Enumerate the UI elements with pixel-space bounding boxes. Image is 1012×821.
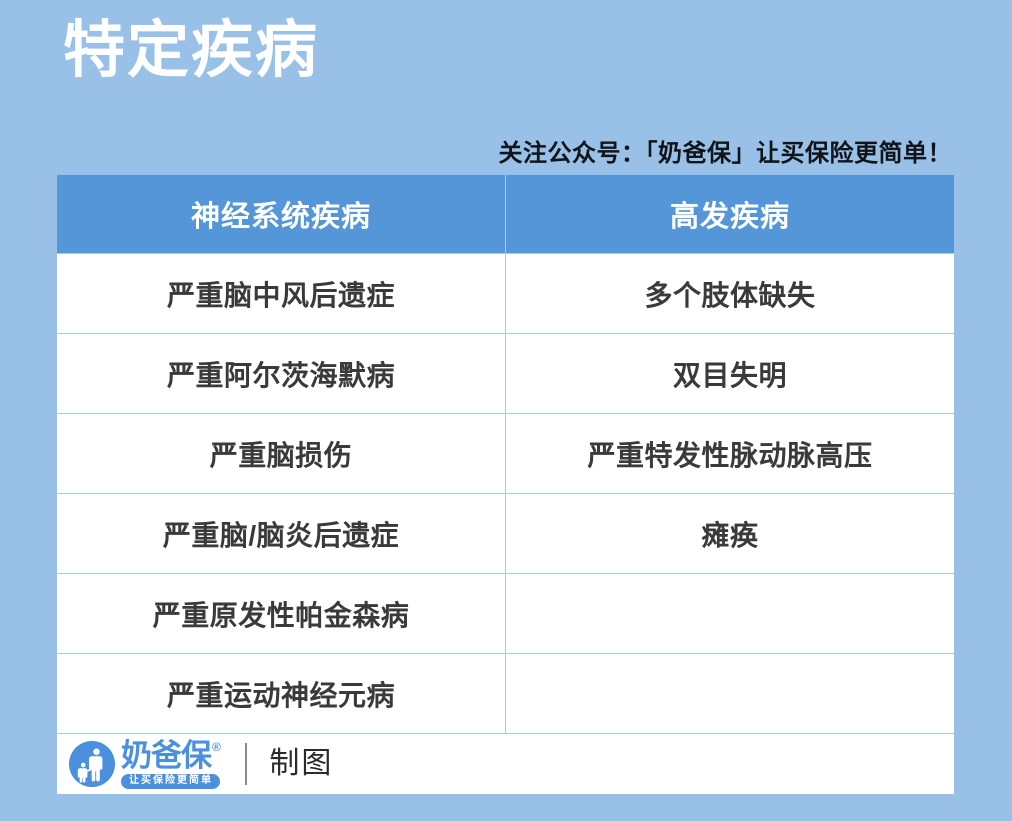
page-title: 特定疾病 [63,12,319,90]
cell-neurological-disease: 严重脑/脑炎后遗症 [57,494,506,574]
table-row: 严重脑中风后遗症 多个肢体缺失 [57,254,954,334]
cell-high-incidence-disease [506,574,955,654]
table-header: 神经系统疾病 高发疾病 [57,175,954,254]
table-row: 严重脑/脑炎后遗症 瘫痪 [57,494,954,574]
brand-wordmark-row: 奶爸保 ® [121,740,221,771]
brand-tagline: 让买保险更简单 [121,774,220,789]
footer-cell: 奶爸保 ® 让买保险更简单 制图 [57,734,954,795]
disease-table-container: 神经系统疾病 高发疾病 严重脑中风后遗症 多个肢体缺失 严重阿尔茨海默病 双目失… [57,175,954,778]
cell-neurological-disease: 严重阿尔茨海默病 [57,334,506,414]
table-body: 严重脑中风后遗症 多个肢体缺失 严重阿尔茨海默病 双目失明 严重脑损伤 严重特发… [57,254,954,795]
table-footer-row: 奶爸保 ® 让买保险更简单 制图 [57,734,954,795]
table-row: 严重原发性帕金森病 [57,574,954,654]
parent-child-logo-icon [69,741,115,787]
disease-table: 神经系统疾病 高发疾病 严重脑中风后遗症 多个肢体缺失 严重阿尔茨海默病 双目失… [57,175,954,794]
column-header-neurological-diseases: 神经系统疾病 [57,175,506,254]
cell-neurological-disease: 严重脑损伤 [57,414,506,494]
cell-neurological-disease: 严重脑中风后遗症 [57,254,506,334]
follow-public-account-subtitle: 关注公众号：「奶爸保」让买保险更简单！ [499,133,953,168]
column-header-high-incidence-diseases: 高发疾病 [506,175,955,254]
cell-high-incidence-disease [506,654,955,734]
table-row: 严重运动神经元病 [57,654,954,734]
cell-high-incidence-disease: 双目失明 [506,334,955,414]
cell-neurological-disease: 严重运动神经元病 [57,654,506,734]
footer-brand-bar: 奶爸保 ® 让买保险更简单 制图 [57,734,954,794]
brand-logo-text: 奶爸保 ® 让买保险更简单 [121,740,221,789]
table-header-row: 神经系统疾病 高发疾病 [57,175,954,254]
cell-high-incidence-disease: 多个肢体缺失 [506,254,955,334]
brand-wordmark: 奶爸保 [121,740,211,771]
registered-trademark-icon: ® [212,741,221,753]
table-row: 严重脑损伤 严重特发性脉动脉高压 [57,414,954,494]
table-row: 严重阿尔茨海默病 双目失明 [57,334,954,414]
footer-vertical-divider [245,743,247,785]
footer-caption: 制图 [269,749,333,779]
cell-high-incidence-disease: 瘫痪 [506,494,955,574]
cell-neurological-disease: 严重原发性帕金森病 [57,574,506,654]
cell-high-incidence-disease: 严重特发性脉动脉高压 [506,414,955,494]
